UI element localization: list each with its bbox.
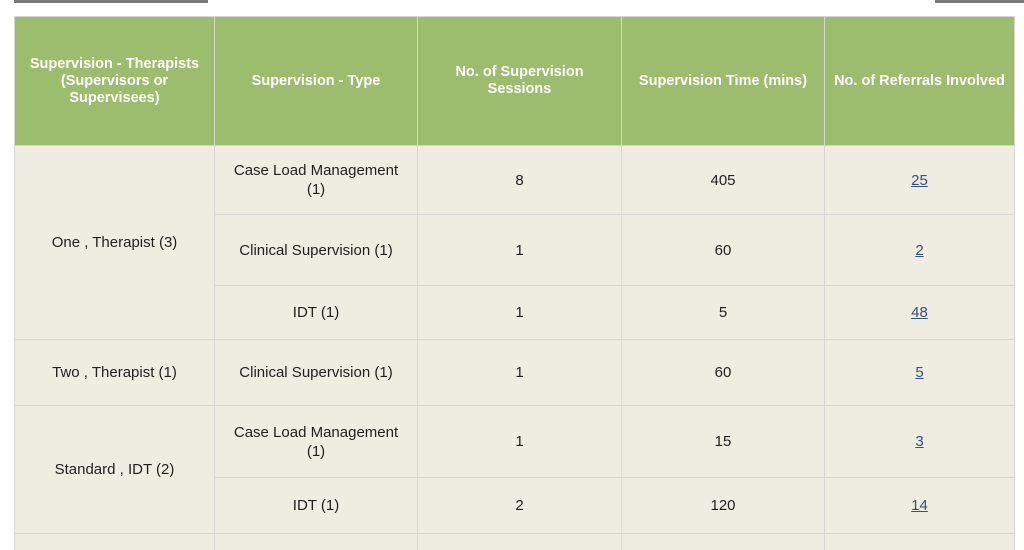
top-toolbar-fragment-right xyxy=(935,0,1024,3)
table-row: One , Therapist (3) Case Load Management… xyxy=(15,146,1015,215)
supervision-time-cell: 60 xyxy=(622,215,825,286)
sessions-count-cell: 2 xyxy=(418,478,622,534)
supervision-type-cell xyxy=(215,534,418,550)
table-body: One , Therapist (3) Case Load Management… xyxy=(15,146,1015,550)
sessions-count-cell: 1 xyxy=(418,215,622,286)
sessions-count-cell: 1 xyxy=(418,406,622,478)
referrals-cell: 25 xyxy=(825,146,1015,215)
referrals-link[interactable]: 14 xyxy=(911,497,928,514)
referrals-link[interactable]: 5 xyxy=(915,364,923,381)
supervision-type-cell: IDT (1) xyxy=(215,286,418,340)
referrals-link[interactable]: 48 xyxy=(911,304,928,321)
supervision-time-cell: 15 xyxy=(622,406,825,478)
sessions-count-cell: 1 xyxy=(418,340,622,406)
sessions-count-cell: 1 xyxy=(418,286,622,340)
supervision-table-container: Supervision - Therapists (Supervisors or… xyxy=(14,16,1014,550)
referrals-link[interactable]: 3 xyxy=(915,433,923,450)
referrals-cell xyxy=(825,534,1015,550)
therapist-group-cell xyxy=(15,534,215,550)
supervision-type-cell: Clinical Supervision (1) xyxy=(215,340,418,406)
sessions-count-cell xyxy=(418,534,622,550)
supervision-time-cell xyxy=(622,534,825,550)
supervision-type-cell: Case Load Management (1) xyxy=(215,146,418,215)
column-header-supervision-time: Supervision Time (mins) xyxy=(622,17,825,146)
column-header-therapists: Supervision - Therapists (Supervisors or… xyxy=(15,17,215,146)
therapist-group-cell: Two , Therapist (1) xyxy=(15,340,215,406)
referrals-cell: 14 xyxy=(825,478,1015,534)
column-header-no-of-referrals: No. of Referrals Involved xyxy=(825,17,1015,146)
referrals-link[interactable]: 25 xyxy=(911,172,928,189)
referrals-cell: 48 xyxy=(825,286,1015,340)
table-header: Supervision - Therapists (Supervisors or… xyxy=(15,17,1015,146)
column-header-supervision-type: Supervision - Type xyxy=(215,17,418,146)
page-root: Supervision - Therapists (Supervisors or… xyxy=(0,0,1024,550)
therapist-group-cell: One , Therapist (3) xyxy=(15,146,215,340)
supervision-report-table: Supervision - Therapists (Supervisors or… xyxy=(14,16,1015,550)
referrals-cell: 3 xyxy=(825,406,1015,478)
referrals-cell: 2 xyxy=(825,215,1015,286)
supervision-type-cell: IDT (1) xyxy=(215,478,418,534)
therapist-group-cell: Standard , IDT (2) xyxy=(15,406,215,534)
sessions-count-cell: 8 xyxy=(418,146,622,215)
table-row: Standard , IDT (2) Case Load Management … xyxy=(15,406,1015,478)
referrals-link[interactable]: 2 xyxy=(915,242,923,259)
column-header-no-of-sessions: No. of Supervision Sessions xyxy=(418,17,622,146)
supervision-time-cell: 120 xyxy=(622,478,825,534)
supervision-time-cell: 5 xyxy=(622,286,825,340)
top-toolbar-fragment-left xyxy=(14,0,208,3)
supervision-time-cell: 405 xyxy=(622,146,825,215)
referrals-cell: 5 xyxy=(825,340,1015,406)
supervision-type-cell: Case Load Management (1) xyxy=(215,406,418,478)
table-row: Two , Therapist (1) Clinical Supervision… xyxy=(15,340,1015,406)
supervision-type-cell: Clinical Supervision (1) xyxy=(215,215,418,286)
table-row-partial xyxy=(15,534,1015,550)
table-header-row: Supervision - Therapists (Supervisors or… xyxy=(15,17,1015,146)
supervision-time-cell: 60 xyxy=(622,340,825,406)
